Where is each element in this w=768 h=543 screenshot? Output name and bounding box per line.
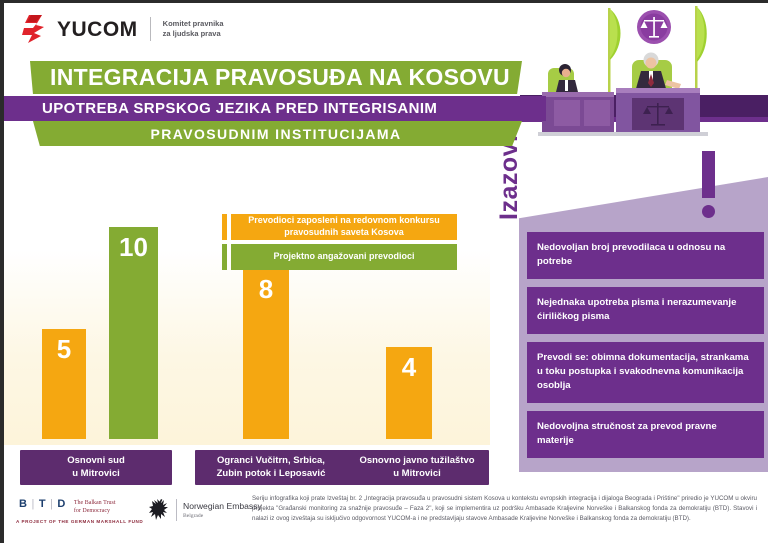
- courtroom-illustration-svg: [520, 0, 768, 152]
- chart-legend: Prevodioci zaposleni na redovnom konkurs…: [222, 214, 457, 274]
- yucom-tagline: Komitet pravnika za ljudska prava: [163, 19, 224, 39]
- yucom-wordmark: YUCOM: [57, 19, 138, 40]
- norwegian-logo-divider: [176, 499, 177, 521]
- bar-value-label: 10: [109, 234, 158, 260]
- page-subtitle-line2: PRAVOSUDNIM INSTITUCIJAMA: [151, 126, 402, 142]
- btd-letters: B|T|D: [16, 498, 69, 510]
- footer: B|T|D The Balkan Trust for Democracy A P…: [0, 486, 768, 543]
- group-label-line2: Zubin potok i Leposavić: [217, 468, 326, 481]
- norwegian-embassy-title: Norwegian Embassy: [183, 501, 262, 511]
- courtroom-illustration: [520, 0, 768, 152]
- challenges-panel: Izazovi: Nedovoljan broj prevodilaca u o…: [497, 160, 768, 485]
- group-label-ogranci: Ogranci Vučitrn, Srbica, Zubin potok i L…: [195, 450, 347, 485]
- title-band-subtitle: UPOTREBA SRPSKOG JEZIKA PRED INTEGRISANI…: [0, 96, 546, 121]
- group-label-line2: u Mitrovici: [359, 468, 474, 481]
- group-label-line1: Osnovno javno tužilaštvo: [359, 455, 474, 468]
- group-label-line1: Osnovni sud: [67, 455, 125, 468]
- page-title: INTEGRACIJA PRAVOSUĐA NA KOSOVU: [50, 64, 510, 91]
- scales-of-justice-emblem-icon: [637, 10, 671, 44]
- page-subtitle-line1: UPOTREBA SRPSKOG JEZIKA PRED INTEGRISANI…: [42, 100, 437, 117]
- legend-swatch-green: [222, 244, 227, 270]
- logo-divider: [150, 17, 151, 41]
- btd-logo: B|T|D The Balkan Trust for Democracy A P…: [16, 498, 143, 524]
- yucom-tagline-line2: za ljudska prava: [163, 29, 224, 39]
- challenge-item: Nedovoljna stručnost za prevod pravne ma…: [527, 411, 764, 458]
- group-label-tuzilastvo: Osnovno javno tužilaštvo u Mitrovici: [345, 450, 489, 485]
- title-band-subtitle-2: PRAVOSUDNIM INSTITUCIJAMA: [30, 121, 522, 146]
- legend-label-green: Projektno angažovani prevodioci: [231, 244, 457, 270]
- challenge-item: Nejednaka upotreba pisma i nerazumevanje…: [527, 287, 764, 334]
- bar-value-label: 4: [386, 354, 432, 380]
- group-label-osnovni-sud: Osnovni sud u Mitrovici: [20, 450, 172, 485]
- frame-edge-top: [0, 0, 768, 3]
- norwegian-embassy-city: Belgrade: [183, 513, 262, 519]
- bar-tuzilastvo-orange: 4: [386, 347, 432, 439]
- btd-name: The Balkan Trust for Democracy: [74, 498, 116, 515]
- yucom-lightning-icon: [22, 14, 48, 44]
- yucom-logo: YUCOM Komitet pravnika za ljudska prava: [22, 14, 224, 44]
- challenge-item: Nedovoljan broj prevodilaca u odnosu na …: [527, 232, 764, 279]
- yucom-tagline-line1: Komitet pravnika: [163, 19, 224, 29]
- norwegian-embassy-logo: Norwegian Embassy Belgrade: [148, 498, 262, 522]
- group-label-line1: Ogranci Vučitrn, Srbica,: [217, 455, 326, 468]
- group-label-line2: u Mitrovici: [67, 468, 125, 481]
- legend-item-project-engaged: Projektno angažovani prevodioci: [222, 244, 457, 270]
- exclamation-mark-icon: [700, 151, 716, 218]
- norwegian-lion-crest-icon: [148, 498, 170, 522]
- bar-value-label: 5: [42, 336, 86, 362]
- btd-name-line1: The Balkan Trust: [74, 499, 116, 507]
- infographic-canvas: YUCOM Komitet pravnika za ljudska prava …: [0, 0, 768, 543]
- challenge-item: Prevodi se: obimna dokumentacija, strank…: [527, 342, 764, 403]
- bar-osnovni-sud-green: 10: [109, 227, 158, 439]
- legend-label-orange: Prevodioci zaposleni na redovnom konkurs…: [231, 214, 457, 240]
- title-band-primary: INTEGRACIJA PRAVOSUĐA NA KOSOVU: [30, 61, 522, 94]
- bar-ogranci-orange: 8: [243, 269, 289, 439]
- btd-subtitle: A PROJECT OF THE GERMAN MARSHALL FUND: [16, 519, 143, 524]
- legend-item-regular-staff: Prevodioci zaposleni na redovnom konkurs…: [222, 214, 457, 240]
- bar-value-label: 8: [243, 276, 289, 302]
- legend-swatch-orange: [222, 214, 227, 240]
- btd-name-line2: for Democracy: [74, 507, 116, 515]
- frame-edge-left: [0, 0, 4, 543]
- bar-osnovni-sud-orange: 5: [42, 329, 86, 439]
- footer-disclaimer: Seriju infografika koji prate Izveštaj b…: [252, 494, 757, 524]
- challenges-list: Nedovoljan broj prevodilaca u odnosu na …: [527, 232, 764, 466]
